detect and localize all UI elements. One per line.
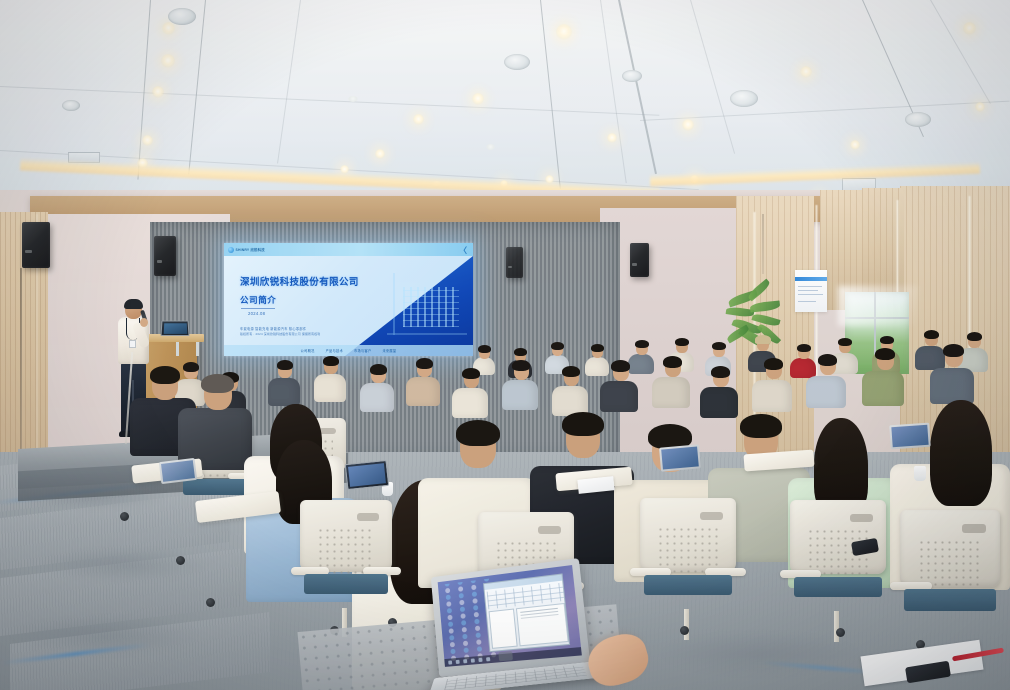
attendee-mid-12	[700, 366, 738, 418]
attendee-mid-16	[930, 344, 974, 404]
company-logo: SHINRY 欣锐科技	[228, 247, 265, 253]
paper-cup	[914, 466, 926, 481]
attendee-front-grey-hair	[178, 374, 252, 470]
attendee-mid-14	[806, 354, 846, 408]
slide-nav-item-1: 产品与技术	[326, 348, 343, 353]
audience-laptop-3	[889, 423, 931, 450]
presenter-hand	[140, 318, 148, 327]
audience-laptop-2	[659, 444, 701, 471]
attendee-mid-6	[406, 358, 440, 406]
presenter-hair	[124, 299, 143, 309]
conference-room-photo: SHINRY 欣锐科技 〈 深圳欣锐科技股份有限公司 公司简介 2024.08 …	[0, 0, 1010, 690]
podium-laptop	[160, 321, 189, 336]
chair-caster	[680, 626, 689, 635]
audience-laptop-4	[159, 458, 197, 484]
chair-front-a[interactable]	[300, 500, 392, 612]
slide-building-graphic-detail	[403, 287, 459, 327]
slide-corner-mark: 〈	[459, 245, 467, 256]
window-glare	[838, 286, 918, 326]
attendee-mid-5	[360, 364, 394, 412]
chair-caster	[206, 598, 215, 607]
slide-copyright: 版权所有 · 2024 深圳欣锐科技股份有限公司 保留所有权利	[240, 332, 320, 336]
open-application-window[interactable]	[483, 573, 570, 652]
wall-speaker-4	[506, 247, 523, 278]
window-list-pane[interactable]	[489, 609, 518, 649]
slide-nav-item-3: 未来展望	[382, 348, 396, 353]
chair-handle-slot	[357, 513, 379, 521]
slide-keywords: 车载电源 智能充电 新能源汽车 核心零部件	[240, 326, 306, 331]
taskbar-icon[interactable]	[478, 658, 482, 662]
slide-nav-item-2: 市场与客户	[354, 348, 371, 353]
wall-speaker-5	[630, 243, 649, 277]
slide-section-nav: 公司概况 产品与技术 市场与客户 未来展望	[224, 345, 473, 356]
slide-nav-item-0: 公司概况	[301, 348, 315, 353]
attendee-mid-8	[502, 360, 538, 410]
chair-seat-cushion	[183, 479, 249, 494]
chair-caster	[120, 512, 129, 521]
chair-caster	[836, 628, 845, 637]
slide-divider	[241, 308, 275, 309]
taskbar-icon[interactable]	[456, 660, 460, 664]
wall-poster	[795, 270, 827, 312]
taskbar-icon[interactable]	[486, 657, 490, 661]
presentation-slide: SHINRY 欣锐科技 〈 深圳欣锐科技股份有限公司 公司简介 2024.08 …	[224, 243, 473, 356]
attendee-mid-10	[600, 360, 638, 412]
attendee-mid-4	[314, 356, 346, 402]
chair-front-c[interactable]	[640, 498, 736, 614]
attendee-mid-7	[452, 368, 488, 418]
slide-title: 深圳欣锐科技股份有限公司	[240, 274, 359, 288]
taskbar-icon[interactable]	[471, 658, 475, 662]
attendee-mid-11	[652, 356, 690, 408]
attendee-mid-9	[552, 366, 588, 416]
taskbar-icon[interactable]	[463, 659, 467, 663]
attendee-mid-15	[862, 348, 904, 406]
window-content-pane[interactable]	[516, 603, 569, 646]
logo-text: SHINRY 欣锐科技	[236, 247, 265, 252]
wall-speaker-2	[154, 236, 176, 276]
wall-speaker-1	[22, 222, 50, 268]
presenter-id-badge	[129, 340, 136, 348]
chair-front-d[interactable]	[790, 500, 886, 616]
logo-mark-icon	[228, 247, 234, 253]
chair-seat-cushion	[304, 574, 389, 594]
audience-laptop-1	[345, 460, 389, 490]
slide-subtitle: 公司简介	[240, 294, 276, 306]
attendee-mid-13	[752, 358, 792, 412]
laptop-lid	[431, 558, 591, 677]
hp-logo-icon	[498, 651, 513, 661]
projection-screen: SHINRY 欣锐科技 〈 深圳欣锐科技股份有限公司 公司简介 2024.08 …	[224, 243, 473, 356]
foreground-laptop[interactable]	[426, 557, 614, 690]
slide-date: 2024.08	[248, 311, 265, 316]
chair-front-e[interactable]	[900, 510, 1000, 630]
attendee-mid-3	[268, 360, 300, 406]
slide-header-bar: SHINRY 欣锐科技	[224, 243, 473, 256]
chair-caster	[176, 556, 185, 565]
poster-header-bar	[795, 277, 827, 281]
taskbar-icon[interactable]	[448, 660, 452, 664]
